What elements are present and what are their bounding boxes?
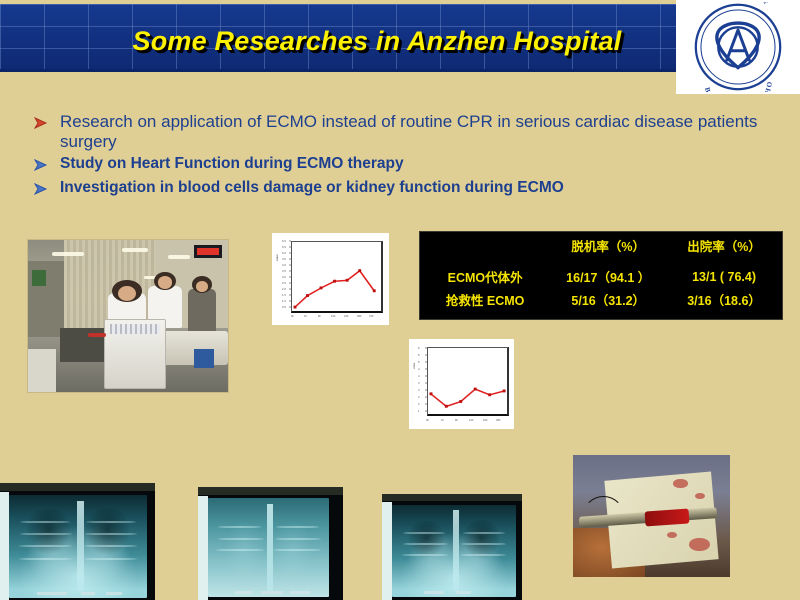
svg-text:value: value <box>275 254 279 261</box>
svg-text:4.5: 4.5 <box>282 257 286 261</box>
column-header-weaning: 脱机率（%） <box>550 232 666 256</box>
svg-text:0h: 0h <box>426 418 429 422</box>
svg-text:6.0: 6.0 <box>282 239 286 243</box>
list-item-label: Investigation in blood cells damage or k… <box>60 178 564 197</box>
svg-text:5.5: 5.5 <box>282 245 286 249</box>
column-header-discharge: 出院率（%） <box>666 232 782 256</box>
svg-text:0h: 0h <box>291 314 294 318</box>
svg-text:1h: 1h <box>441 418 444 422</box>
svg-text:3: 3 <box>418 388 420 392</box>
chart-axes: 6.05.55.0 4.54.03.5 3.02.52.0 1.51.00.5 … <box>272 233 389 325</box>
chart-trend-dip: 655 443 322 1 0h1h6h 12h24h48h value <box>409 339 514 429</box>
svg-text:5: 5 <box>418 353 420 357</box>
presentation-slide: Some Researches in Anzhen Hospital 北 京 安… <box>0 0 800 600</box>
svg-text:2.5: 2.5 <box>282 281 286 285</box>
hospital-logo: 北 京 安 贞 医 院 BEIJING ANZHEN HOSPITAL <box>676 0 800 94</box>
svg-text:3.0: 3.0 <box>282 275 286 279</box>
svg-text:12h: 12h <box>331 314 336 318</box>
table-row: 抢救性 ECMO 5/16（31.2） 3/16（18.6） <box>420 287 782 310</box>
list-item: Investigation in blood cells damage or k… <box>34 178 774 200</box>
table-row: ECMO代体外 16/17（94.1 ） 13/1 ( 76.4) <box>420 256 782 287</box>
chart-trend-rising: 6.05.55.0 4.54.03.5 3.02.52.0 1.51.00.5 … <box>272 233 389 325</box>
bullet-list: Research on application of ECMO instead … <box>34 112 774 202</box>
row-label: ECMO代体外 <box>420 256 550 287</box>
table-header-row: 脱机率（%） 出院率（%） <box>420 232 782 256</box>
cell-discharge: 3/16（18.6） <box>666 287 782 310</box>
svg-text:4: 4 <box>418 374 420 378</box>
list-item-label: Research on application of ECMO instead … <box>60 112 774 152</box>
list-item: Research on application of ECMO instead … <box>34 112 774 152</box>
svg-text:2: 2 <box>418 395 420 399</box>
arrow-bullet-blue-icon <box>34 178 60 200</box>
svg-text:3: 3 <box>418 381 420 385</box>
list-item: Study on Heart Function during ECMO ther… <box>34 154 774 176</box>
chart-axes: 655 443 322 1 0h1h6h 12h24h48h value <box>409 339 514 429</box>
arrow-bullet-blue-icon <box>34 154 60 176</box>
svg-text:12h: 12h <box>469 418 474 422</box>
results-table: 脱机率（%） 出院率（%） ECMO代体外 16/17（94.1 ） 13/1 … <box>419 231 783 320</box>
svg-text:6: 6 <box>418 346 420 350</box>
svg-text:24h: 24h <box>483 418 488 422</box>
svg-text:6h: 6h <box>318 314 321 318</box>
svg-text:4.0: 4.0 <box>282 263 286 267</box>
svg-text:2.0: 2.0 <box>282 287 286 291</box>
svg-text:1.5: 1.5 <box>282 293 286 297</box>
cell-weaning: 16/17（94.1 ） <box>550 256 666 287</box>
chest-xray-1 <box>0 483 155 600</box>
hospital-seal-icon: 北 京 安 贞 医 院 BEIJING ANZHEN HOSPITAL <box>690 2 786 92</box>
row-label: 抢救性 ECMO <box>420 287 550 310</box>
svg-text:0.5: 0.5 <box>282 305 286 309</box>
chest-xray-2 <box>198 487 343 600</box>
svg-text:6h: 6h <box>455 418 458 422</box>
svg-text:24h: 24h <box>344 314 349 318</box>
arrow-bullet-red-icon <box>34 112 60 134</box>
svg-text:1.0: 1.0 <box>282 299 286 303</box>
svg-text:3.5: 3.5 <box>282 269 286 273</box>
svg-text:4: 4 <box>418 367 420 371</box>
list-item-label: Study on Heart Function during ECMO ther… <box>60 154 404 173</box>
icu-team-ecmo-photo <box>27 239 229 393</box>
svg-text:5: 5 <box>418 360 420 364</box>
svg-text:48h: 48h <box>357 314 362 318</box>
cell-discharge: 13/1 ( 76.4) <box>666 256 782 287</box>
svg-text:2: 2 <box>418 402 420 406</box>
svg-text:value: value <box>412 362 416 369</box>
svg-text:48h: 48h <box>496 418 501 422</box>
svg-text:1h: 1h <box>304 314 307 318</box>
svg-text:72h: 72h <box>369 314 374 318</box>
svg-text:5.0: 5.0 <box>282 251 286 255</box>
page-title: Some Researches in Anzhen Hospital <box>92 20 662 62</box>
surgical-cannula-photo <box>573 455 730 577</box>
cell-weaning: 5/16（31.2） <box>550 287 666 310</box>
svg-text:1: 1 <box>418 409 420 413</box>
chest-xray-3 <box>382 494 522 600</box>
